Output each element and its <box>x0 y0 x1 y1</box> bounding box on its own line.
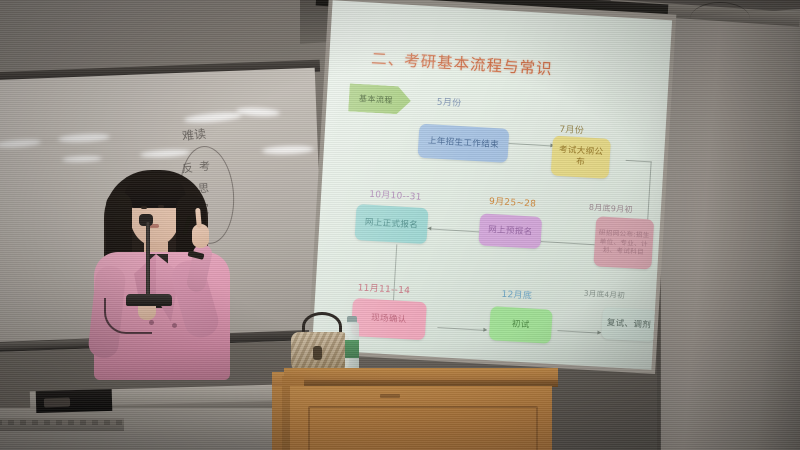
connector-n4-n5 <box>431 228 481 232</box>
flow-node-n5: 网上正式报名 <box>354 204 428 244</box>
date-label-n5: 10月10--31 <box>369 187 422 203</box>
date-label-n2: 7月份 <box>559 122 584 136</box>
flow-node-n3-label: 研招网公布:招生单位、专业、计划、考试科目 <box>594 228 653 258</box>
flow-node-n1-label: 上年招生工作结束 <box>425 136 503 151</box>
whiteboard-note-top: 难读 <box>181 125 207 144</box>
badge-label: 基本流程 <box>359 92 394 105</box>
flow-node-n6-label: 现场确认 <box>368 313 410 326</box>
badge-basic-process: 基本流程 <box>348 83 412 115</box>
screenshot-root: 难读 反 考 思 定 专业 二、考研基本流程与常识 基本流程 5月份 7月份 8… <box>0 0 800 450</box>
microphone-cable <box>104 298 152 334</box>
water-bottle-label <box>345 340 359 358</box>
presenter-eye <box>158 205 164 208</box>
date-label-n3: 8月底9月初 <box>589 202 634 216</box>
desk-equipment <box>44 398 70 408</box>
flow-node-n7: 初试 <box>489 306 553 344</box>
podium-nameplate <box>380 394 400 398</box>
date-label-n7: 12月底 <box>501 287 532 302</box>
podium-front-panel <box>308 406 538 450</box>
flow-node-n7-label: 初试 <box>509 319 533 331</box>
presenter-eye <box>141 206 147 209</box>
flow-node-n1: 上年招生工作结束 <box>417 124 509 163</box>
date-label-n6: 11月11--14 <box>357 280 410 296</box>
connector-down-n3 <box>647 161 652 227</box>
presenter <box>82 168 252 408</box>
handbag-clasp <box>313 346 322 360</box>
connector-n7-n8 <box>557 330 599 333</box>
slide-title: 二、考研基本流程与常识 <box>371 47 554 80</box>
wall-right <box>660 0 800 450</box>
date-label-n4: 9月25~28 <box>489 194 537 210</box>
projector-screen: 二、考研基本流程与常识 基本流程 5月份 7月份 8月底9月初 9月25~28 … <box>312 0 672 370</box>
date-label-n1: 5月份 <box>436 95 461 109</box>
connector-arrow-n7 <box>483 328 487 332</box>
connector-n6-n7 <box>437 327 485 331</box>
flow-node-n8: 复试、调剂 <box>601 307 657 342</box>
flow-node-n2: 考试大纲公布 <box>551 136 611 179</box>
flow-node-n3: 研招网公布:招生单位、专业、计划、考试科目 <box>593 216 654 269</box>
connector-arrow-n5 <box>427 226 431 230</box>
flow-node-n8-label: 复试、调剂 <box>603 318 654 332</box>
flow-node-n2-label: 考试大纲公布 <box>551 145 610 170</box>
microphone-stand <box>146 222 150 298</box>
coat-button <box>172 323 177 328</box>
flow-node-n4: 网上预报名 <box>478 213 542 249</box>
flow-node-n6: 现场确认 <box>351 298 427 340</box>
connector-n3-n4 <box>541 241 595 245</box>
flow-node-n5-label: 网上正式报名 <box>362 217 422 231</box>
date-label-n8: 3月底4月初 <box>583 288 625 301</box>
desk-shelf-detail <box>0 420 124 425</box>
presentation-slide: 二、考研基本流程与常识 基本流程 5月份 7月份 8月底9月初 9月25~28 … <box>312 0 672 370</box>
connector-n1-n2 <box>506 143 552 147</box>
connector-n2-right <box>626 160 652 163</box>
flow-node-n4-label: 网上预报名 <box>485 224 536 238</box>
